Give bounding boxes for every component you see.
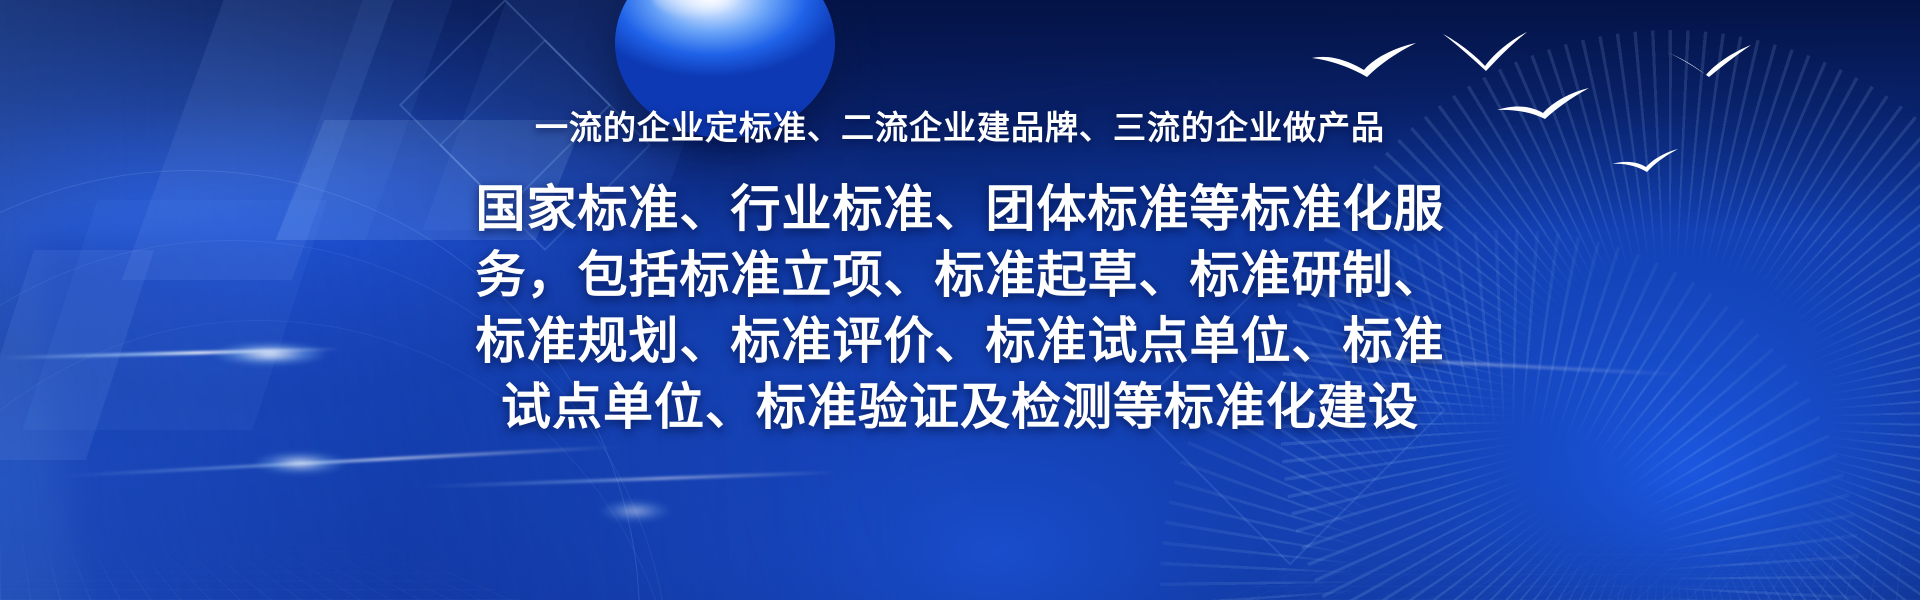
banner-body-line: 国家标准、行业标准、团体标准等标准化服	[330, 176, 1590, 242]
banner-body-line: 务，包括标准立项、标准起草、标准研制、	[330, 242, 1590, 308]
banner-content: 一流的企业定标准、二流企业建品牌、三流的企业做产品 国家标准、行业标准、团体标准…	[0, 0, 1920, 600]
promo-banner: 一流的企业定标准、二流企业建品牌、三流的企业做产品 国家标准、行业标准、团体标准…	[0, 0, 1920, 600]
banner-body-line: 试点单位、标准验证及检测等标准化建设	[330, 374, 1590, 440]
banner-body-line: 标准规划、标准评价、标准试点单位、标准	[330, 308, 1590, 374]
banner-headline: 一流的企业定标准、二流企业建品牌、三流的企业做产品	[535, 108, 1385, 148]
banner-body: 国家标准、行业标准、团体标准等标准化服 务，包括标准立项、标准起草、标准研制、 …	[330, 176, 1590, 440]
